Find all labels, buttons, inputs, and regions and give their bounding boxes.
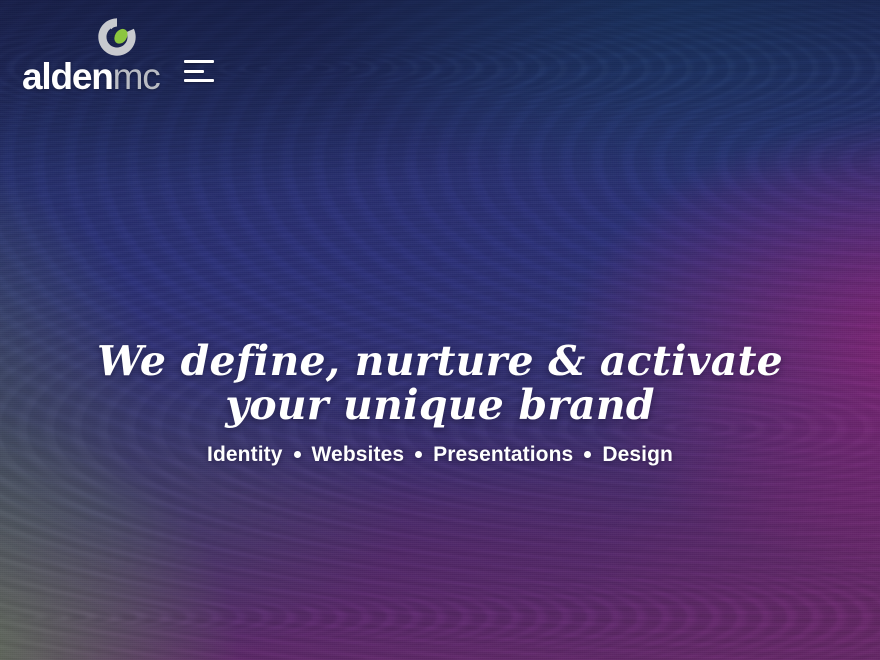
hamburger-menu-icon[interactable] — [184, 60, 214, 82]
hero-headline: We define, nurture & activate your uniqu… — [40, 340, 840, 428]
hero-section: aldenmc We define, nurture & activate yo… — [0, 0, 880, 660]
hero-service-presentations: Presentations — [433, 443, 573, 467]
hamburger-bar-middle — [184, 70, 204, 73]
hero-headline-line-2: your unique brand — [225, 381, 655, 429]
brand-wordmark-primary: alden — [22, 56, 113, 97]
hero-service-identity: Identity — [207, 443, 282, 467]
leaf-in-crescent-logo-icon — [94, 14, 140, 60]
bullet-separator-icon — [584, 451, 591, 458]
brand-wordmark-secondary: mc — [113, 56, 160, 97]
hamburger-bar-top — [184, 60, 214, 63]
hamburger-bar-bottom — [184, 79, 214, 82]
hero-headline-line-1: We define, nurture & activate — [97, 337, 783, 385]
site-header: aldenmc — [0, 0, 214, 95]
hero-service-websites: Websites — [312, 443, 405, 467]
brand-wordmark: aldenmc — [22, 58, 160, 95]
hero-service-design: Design — [602, 443, 673, 467]
brand-logo-link[interactable]: aldenmc — [22, 14, 160, 95]
bullet-separator-icon — [294, 451, 301, 458]
bullet-separator-icon — [415, 451, 422, 458]
hero-copy: We define, nurture & activate your uniqu… — [0, 340, 880, 467]
hero-services-list: Identity Websites Presentations Design — [40, 443, 840, 467]
